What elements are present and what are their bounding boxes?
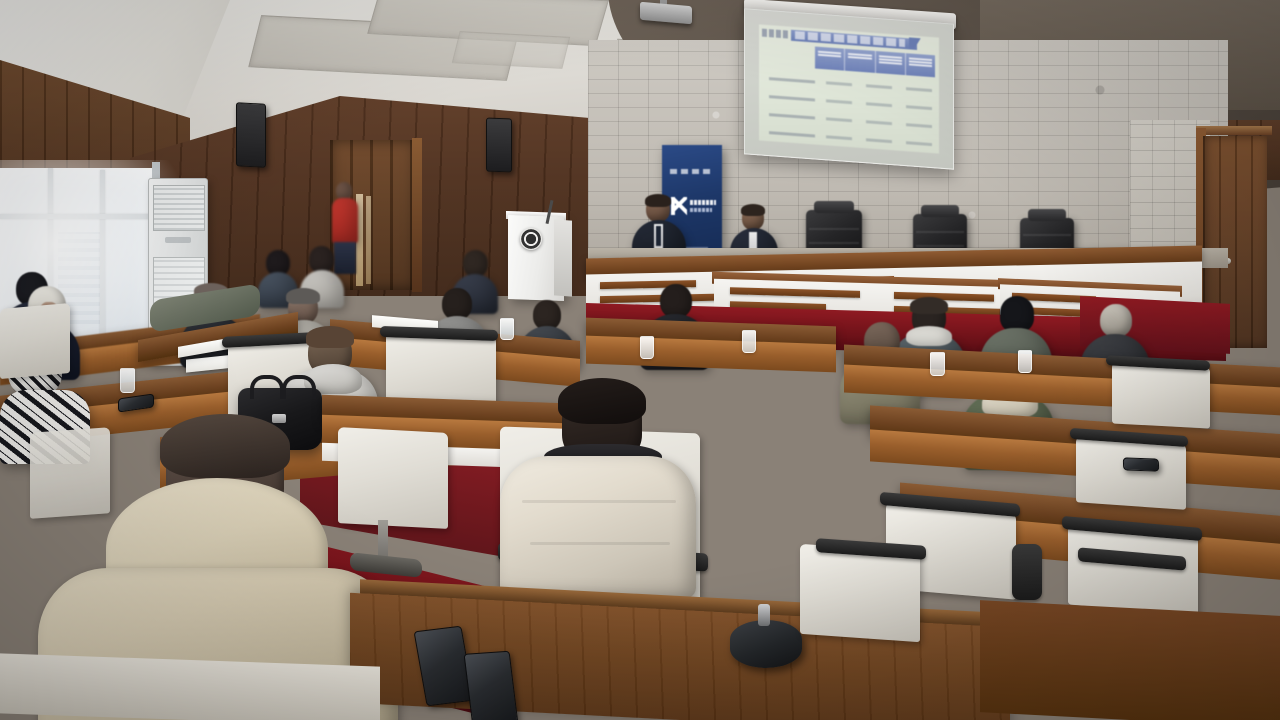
handbag-handle [282, 375, 316, 399]
slide-logo-right [909, 37, 935, 51]
slide-table-col [876, 51, 906, 75]
window-mullion [100, 170, 105, 358]
audience-chair[interactable] [1076, 436, 1186, 510]
municipal-emblem-icon [520, 228, 542, 250]
handbag-handle [250, 375, 284, 399]
water-glass [640, 336, 654, 359]
microphone-stem [758, 604, 770, 626]
ac-grille [153, 185, 205, 231]
person-cream-puffer [500, 382, 696, 596]
water-glass [930, 352, 945, 376]
ac-logo [165, 237, 191, 243]
water-glass [1018, 350, 1032, 373]
door-frame-top [1196, 126, 1272, 135]
banner-brand-text [690, 200, 716, 205]
door-light-strip [366, 196, 371, 284]
slide-table-col [845, 49, 875, 73]
foreground-desk [980, 600, 1280, 720]
smartphone[interactable] [464, 651, 519, 720]
audience-chair[interactable] [0, 303, 70, 379]
water-glass [742, 330, 756, 353]
wall-speaker-icon [486, 118, 512, 173]
slide-table-col [815, 47, 845, 71]
wall-speaker-icon [236, 102, 266, 168]
projection-screen [744, 8, 954, 169]
person-row-back [630, 216, 678, 274]
presentation-slide [759, 24, 939, 153]
banner-partner-logos [670, 169, 714, 174]
water-glass [500, 318, 514, 340]
chair-armrest [1012, 544, 1042, 600]
conference-microphone[interactable] [730, 620, 802, 668]
photo-scene [0, 0, 1280, 720]
water-glass [120, 368, 135, 393]
smartphone[interactable] [1123, 457, 1159, 471]
lectern-side-panel [554, 219, 572, 296]
ceiling-panel [452, 31, 571, 69]
audience-chair[interactable] [1112, 361, 1210, 428]
door-jamb [412, 138, 422, 292]
audience-chair[interactable] [800, 544, 920, 642]
slide-logo-left [762, 29, 788, 39]
slide-table-col [906, 53, 935, 77]
banner-brand-subtext [690, 208, 712, 212]
slide-table-rows [769, 69, 939, 153]
window-mullion [0, 214, 156, 219]
slide-table-header [815, 47, 935, 78]
